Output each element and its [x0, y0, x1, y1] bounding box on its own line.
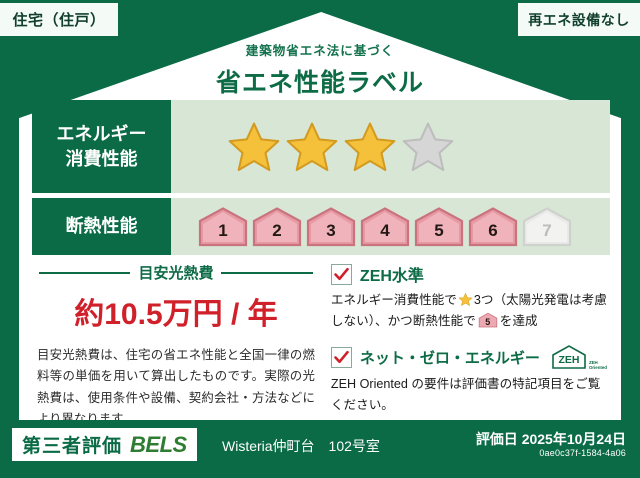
insulation-level-5: 5	[413, 206, 465, 248]
insulation-badge-inline: 5	[478, 312, 498, 329]
net-zero-text: ZEH Oriented の要件は評価書の特記項目をご覧ください。	[331, 374, 607, 416]
building-name: Wisteria仲町台 102号室	[222, 436, 380, 456]
insulation-level-scale: 1234567	[197, 206, 573, 248]
insulation-performance-label: 断熱性能	[32, 198, 171, 255]
insulation-level-value: 6	[467, 206, 519, 248]
evaluation-id: 0ae0c37f-1584-4a06	[539, 448, 626, 458]
zeh-standard-text: エネルギー消費性能で3つ（太陽光発電は考慮しない）、かつ断熱性能で5を達成	[331, 290, 607, 332]
cost-rule-right	[221, 272, 312, 274]
insulation-level-6: 6	[467, 206, 519, 248]
energy-performance-body	[171, 100, 610, 193]
zeh-standard-checkbox[interactable]	[331, 264, 352, 285]
net-zero-checkbox[interactable]	[331, 347, 352, 368]
insulation-level-value: 7	[521, 206, 573, 248]
insulation-level-4: 4	[359, 206, 411, 248]
insulation-badge-value: 5	[478, 312, 498, 329]
star-icon-filled	[342, 120, 398, 174]
insulation-level-1: 1	[197, 206, 249, 248]
footer-bar: 第三者評価 BELS Wisteria仲町台 102号室 評価日 2025年10…	[0, 420, 640, 478]
tag-renewable-equipment: 再エネ設備なし	[518, 3, 640, 36]
insulation-level-value: 4	[359, 206, 411, 248]
cost-note: 目安光熱費は、住宅の省エネ性能と全国一律の燃料等の単価を用いて算出したものです。…	[33, 345, 319, 430]
zeh-logo: ZEH ZEH Oriented	[551, 344, 607, 370]
energy-performance-row: エネルギー 消費性能	[32, 100, 610, 193]
insulation-label-line1: 断熱性能	[66, 214, 138, 238]
star-icon-filled	[226, 120, 282, 174]
insulation-performance-row: 断熱性能 1234567	[32, 198, 610, 255]
net-zero-heading: ネット・ゼロ・エネルギー ZEH ZEH Oriented	[331, 344, 607, 370]
check-icon	[333, 349, 350, 366]
zeh-text-part1: エネルギー消費性能で	[331, 293, 457, 307]
insulation-level-value: 5	[413, 206, 465, 248]
title-subtitle: 建築物省エネ法に基づく	[0, 40, 640, 59]
insulation-level-3: 3	[305, 206, 357, 248]
star-icon-filled	[284, 120, 340, 174]
energy-label-root: 住宅（住戸） 再エネ設備なし 建築物省エネ法に基づく 省エネ性能ラベル エネルギ…	[0, 0, 640, 478]
detail-columns: 目安光熱費 約10.5万円 / 年 目安光熱費は、住宅の省エネ性能と全国一律の燃…	[33, 262, 607, 414]
star-icon	[458, 292, 473, 307]
insulation-level-value: 3	[305, 206, 357, 248]
cost-column: 目安光熱費 約10.5万円 / 年 目安光熱費は、住宅の省エネ性能と全国一律の燃…	[33, 262, 319, 414]
zeh-standard-title: ZEH水準	[360, 262, 424, 286]
energy-label-line2: 消費性能	[66, 147, 138, 171]
bels-badge-en: BELS	[130, 432, 187, 458]
insulation-performance-body: 1234567	[171, 198, 610, 255]
cost-value: 約10.5万円 / 年	[33, 289, 319, 333]
title-main: 省エネ性能ラベル	[0, 63, 640, 99]
zeh-column: ZEH水準 エネルギー消費性能で3つ（太陽光発電は考慮しない）、かつ断熱性能で5…	[319, 262, 607, 414]
star-icon-empty	[400, 120, 456, 174]
zeh-standard-block: ZEH水準 エネルギー消費性能で3つ（太陽光発電は考慮しない）、かつ断熱性能で5…	[331, 262, 607, 332]
insulation-level-value: 1	[197, 206, 249, 248]
star-rating	[226, 120, 456, 174]
cost-rule-left	[39, 272, 130, 274]
cost-heading: 目安光熱費	[39, 262, 313, 283]
evaluation-date: 評価日 2025年10月24日	[476, 429, 626, 449]
zeh-house-logo-icon: ZEH	[551, 344, 587, 370]
zeh-text-part3: を達成	[500, 314, 538, 328]
zeh-standard-heading: ZEH水準	[331, 262, 607, 286]
insulation-level-2: 2	[251, 206, 303, 248]
svg-text:ZEH: ZEH	[558, 354, 579, 366]
label-title: 建築物省エネ法に基づく 省エネ性能ラベル	[0, 40, 640, 99]
cost-heading-text: 目安光熱費	[138, 262, 213, 283]
bels-badge-jp: 第三者評価	[22, 431, 122, 458]
net-zero-title: ネット・ゼロ・エネルギー	[360, 347, 540, 368]
insulation-level-7: 7	[521, 206, 573, 248]
insulation-level-value: 2	[251, 206, 303, 248]
bels-badge: 第三者評価 BELS	[12, 428, 197, 461]
net-zero-energy-block: ネット・ゼロ・エネルギー ZEH ZEH Oriented ZEH Orient…	[331, 344, 607, 416]
energy-performance-label: エネルギー 消費性能	[32, 100, 171, 193]
energy-label-line1: エネルギー	[57, 122, 147, 146]
zeh-logo-sub-line2: Oriented	[589, 365, 607, 370]
tag-building-type: 住宅（住戸）	[0, 3, 118, 36]
check-icon	[333, 266, 350, 283]
zeh-logo-subtext: ZEH Oriented	[589, 360, 607, 370]
